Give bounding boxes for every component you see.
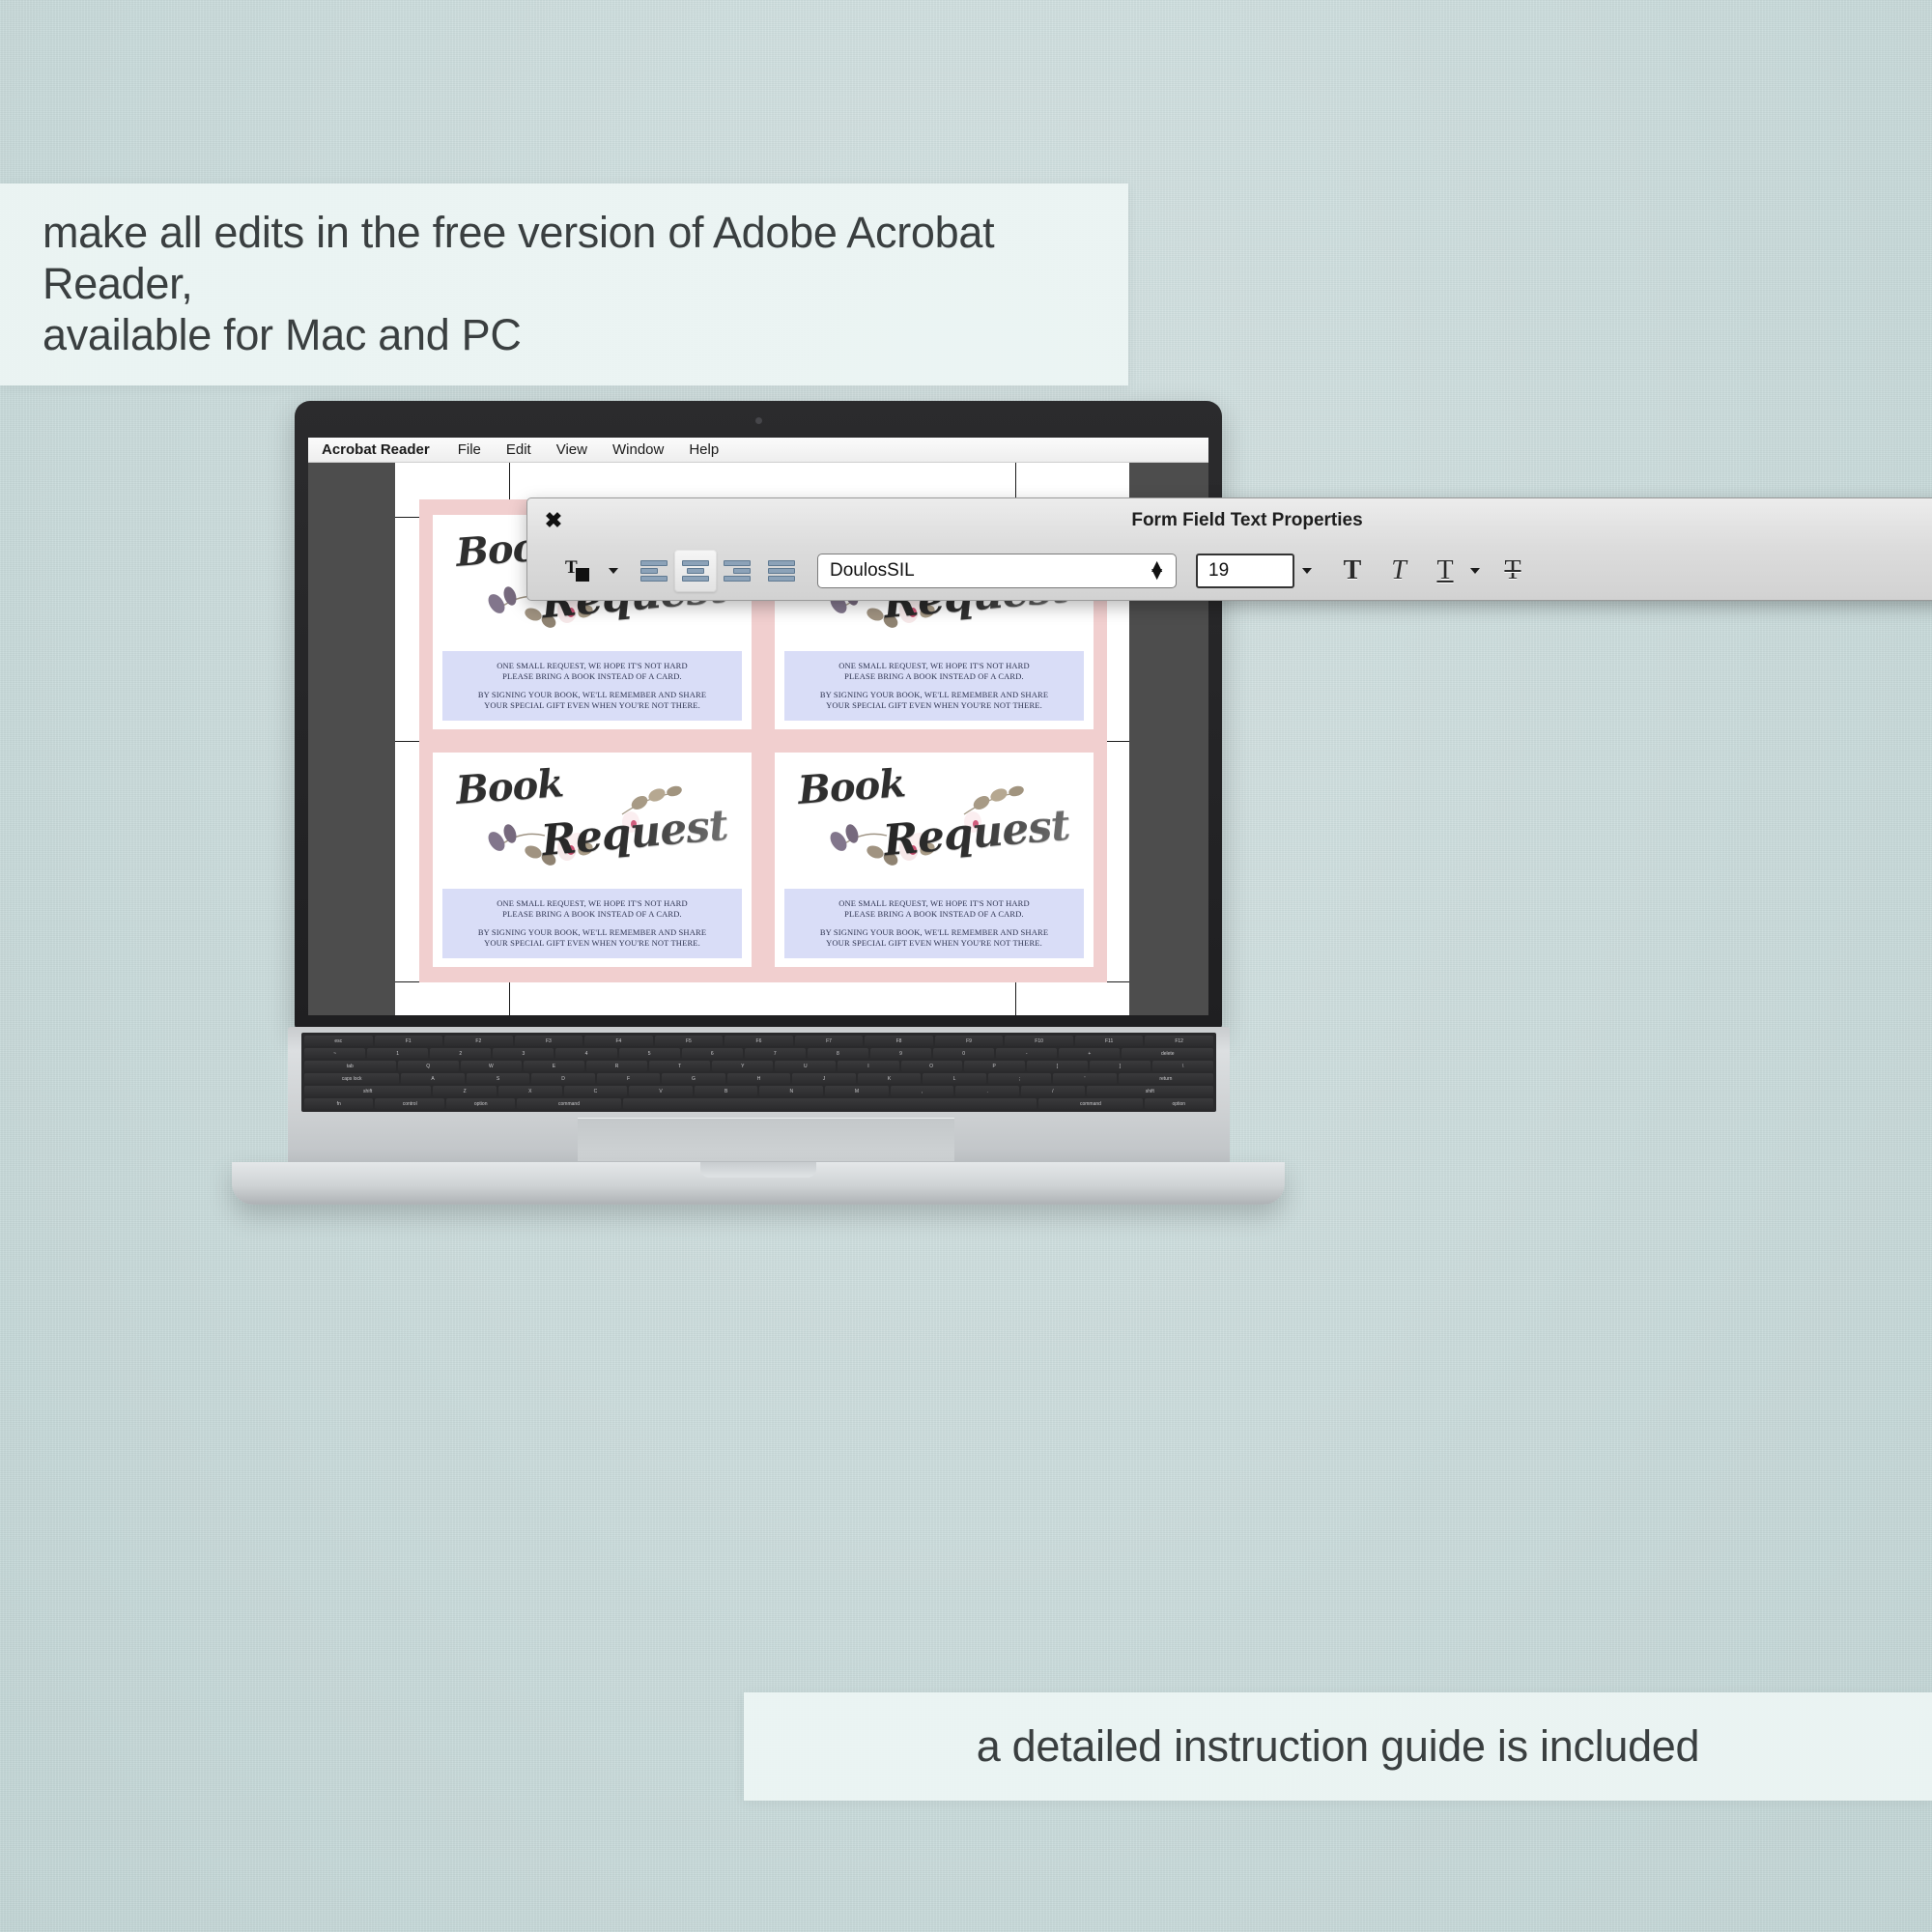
key-tab[interactable]: tab [304,1061,396,1071]
align-center-button[interactable] [674,550,717,592]
crop-mark-bottom-left-v [509,982,510,1015]
font-size-value: 19 [1208,560,1229,582]
menu-item-edit[interactable]: Edit [494,441,544,458]
justify-button[interactable] [759,550,802,592]
keyboard-row-4: shift Z X C V B N M , . / shift [304,1086,1213,1096]
card-message: ONE SMALL REQUEST, WE HOPE IT'S NOT HARD… [442,889,742,958]
key-control[interactable]: control [375,1098,443,1109]
key[interactable]: P [964,1061,1025,1071]
card-message-line-3: BY SIGNING YOUR BOOK, WE'LL REMEMBER AND… [478,927,706,938]
key[interactable]: F [597,1073,661,1084]
bottom-caption-text: a detailed instruction guide is included [977,1721,1700,1772]
key[interactable]: E [524,1061,584,1071]
card-message-line-2: PLEASE BRING A BOOK INSTEAD OF A CARD. [844,671,1024,682]
key[interactable]: . [955,1086,1019,1096]
card-item[interactable]: Book Request ONE SMALL REQUEST, WE HOPE … [433,753,752,967]
italic-button[interactable]: T [1376,550,1422,592]
key[interactable]: / [1021,1086,1085,1096]
keyboard-row-2: tab Q W E R T Y U I O P [ ] \ [304,1061,1213,1071]
key[interactable]: - [996,1048,1057,1059]
key[interactable]: F9 [935,1036,1004,1046]
key-fn[interactable]: fn [304,1098,373,1109]
key[interactable]: ] [1090,1061,1151,1071]
menu-item-view[interactable]: View [544,441,600,458]
key[interactable]: 7 [745,1048,806,1059]
key-return[interactable]: return [1119,1073,1213,1084]
card-artwork: Book Request [433,753,752,881]
underline-icon: T [1436,555,1453,586]
card-message-line-3: BY SIGNING YOUR BOOK, WE'LL REMEMBER AND… [478,690,706,700]
key[interactable]: F2 [444,1036,513,1046]
top-caption-line-1: make all edits in the free version of Ad… [43,207,1128,309]
dialog-toolbar: T DoulosSIL ▲ [527,543,1932,599]
key[interactable]: 8 [808,1048,868,1059]
key[interactable]: , [891,1086,954,1096]
key[interactable]: F1 [375,1036,443,1046]
dialog-title: Form Field Text Properties [527,510,1932,531]
menu-item-window[interactable]: Window [600,441,676,458]
key[interactable]: F7 [795,1036,864,1046]
text-color-tool-button[interactable]: T [551,550,605,592]
align-right-button[interactable] [717,550,759,592]
card-message-line-4: YOUR SPECIAL GIFT EVEN WHEN YOU'RE NOT T… [826,938,1042,949]
card-message-line-3: BY SIGNING YOUR BOOK, WE'LL REMEMBER AND… [820,927,1048,938]
key[interactable]: X [498,1086,562,1096]
key[interactable]: F6 [724,1036,793,1046]
card-message-line-3: BY SIGNING YOUR BOOK, WE'LL REMEMBER AND… [820,690,1048,700]
key[interactable]: A [401,1073,465,1084]
key[interactable]: + [1059,1048,1120,1059]
card-message-line-2: PLEASE BRING A BOOK INSTEAD OF A CARD. [844,909,1024,920]
top-caption-banner: make all edits in the free version of Ad… [0,184,1128,385]
card-title-line-1: Book [796,760,906,813]
justify-icon [768,560,793,582]
top-caption-line-2: available for Mac and PC [43,309,1128,360]
form-field-text-properties-dialog[interactable]: ✖ Form Field Text Properties T [526,497,1932,601]
close-icon[interactable]: ✖ [543,510,564,531]
key-delete[interactable]: delete [1122,1048,1213,1059]
card-message: ONE SMALL REQUEST, WE HOPE IT'S NOT HARD… [784,651,1084,721]
key[interactable]: L [923,1073,986,1084]
key[interactable]: F3 [515,1036,583,1046]
underline-button[interactable]: T [1422,550,1468,592]
key-shift-right[interactable]: shift [1087,1086,1213,1096]
key[interactable]: T [649,1061,710,1071]
bold-button[interactable]: T [1329,550,1376,592]
key[interactable]: Z [433,1086,497,1096]
align-right-icon [725,560,751,582]
key[interactable]: 4 [555,1048,616,1059]
card-message-line-4: YOUR SPECIAL GIFT EVEN WHEN YOU'RE NOT T… [826,700,1042,711]
key[interactable]: F5 [655,1036,724,1046]
card-artwork: Book Request [775,753,1094,881]
card-message-line-1: ONE SMALL REQUEST, WE HOPE IT'S NOT HARD [497,898,688,909]
crop-mark-bottom-right-v [1015,982,1016,1015]
strikethrough-button[interactable]: T [1490,550,1536,592]
card-message: ONE SMALL REQUEST, WE HOPE IT'S NOT HARD… [784,889,1084,958]
key[interactable]: C [564,1086,628,1096]
key[interactable]: N [759,1086,823,1096]
webcam-icon [755,417,762,424]
key[interactable]: D [531,1073,595,1084]
key[interactable]: 9 [870,1048,931,1059]
key[interactable]: esc [304,1036,373,1046]
card-message-line-1: ONE SMALL REQUEST, WE HOPE IT'S NOT HARD [497,661,688,671]
font-family-select[interactable]: DoulosSIL ▲▼ [817,554,1177,588]
key[interactable]: ~ [304,1048,365,1059]
dialog-title-bar: ✖ Form Field Text Properties [527,498,1932,543]
key[interactable]: F11 [1075,1036,1144,1046]
laptop-base: esc F1 F2 F3 F4 F5 F6 F7 F8 F9 F10 F11 F… [145,1027,1391,1217]
keyboard-row-5: fn control option command command option [304,1098,1213,1109]
key[interactable]: I [838,1061,898,1071]
trackpad[interactable] [578,1118,954,1161]
font-family-value: DoulosSIL [830,560,915,582]
card-message-line-4: YOUR SPECIAL GIFT EVEN WHEN YOU'RE NOT T… [484,938,700,949]
keyboard-row-1: ~ 1 2 3 4 5 6 7 8 9 0 - + delete [304,1048,1213,1059]
key-command-right[interactable]: command [1038,1098,1142,1109]
laptop-lid-notch [700,1162,816,1178]
text-color-dropdown-caret[interactable] [609,568,618,574]
key[interactable]: \ [1152,1061,1213,1071]
align-center-icon [683,560,708,582]
key[interactable]: U [775,1061,836,1071]
menu-item-acrobat-reader[interactable]: Acrobat Reader [322,441,445,458]
key[interactable]: H [727,1073,791,1084]
key[interactable]: F4 [584,1036,653,1046]
key[interactable]: 1 [367,1048,428,1059]
key[interactable]: [ [1027,1061,1088,1071]
card-message-line-1: ONE SMALL REQUEST, WE HOPE IT'S NOT HARD [838,898,1030,909]
strikethrough-icon: T [1504,555,1520,586]
font-size-dropdown-caret[interactable] [1302,568,1312,574]
key[interactable]: V [629,1086,693,1096]
menu-bar: Acrobat Reader File Edit View Window Hel… [308,438,1208,463]
key-option-left[interactable]: option [446,1098,515,1109]
key[interactable]: K [858,1073,922,1084]
key[interactable]: J [792,1073,856,1084]
text-color-icon: T [563,556,592,585]
menu-item-help[interactable]: Help [676,441,731,458]
card-message-line-1: ONE SMALL REQUEST, WE HOPE IT'S NOT HARD [838,661,1030,671]
key[interactable]: O [901,1061,962,1071]
laptop-palmrest [232,1162,1285,1205]
keyboard-row-3: caps lock A S D F G H J K L ; ' return [304,1073,1213,1084]
card-item[interactable]: Book Request ONE SMALL REQUEST, WE HOPE … [775,753,1094,967]
key[interactable]: R [586,1061,647,1071]
key-shift-left[interactable]: shift [304,1086,431,1096]
key[interactable]: 2 [430,1048,491,1059]
font-size-input[interactable]: 19 [1196,554,1294,588]
select-stepper-icon: ▲▼ [1148,563,1166,579]
card-message-line-4: YOUR SPECIAL GIFT EVEN WHEN YOU'RE NOT T… [484,700,700,711]
underline-dropdown-caret[interactable] [1470,568,1480,574]
align-left-button[interactable] [632,550,674,592]
key-space[interactable] [623,1098,1037,1109]
laptop-deck: esc F1 F2 F3 F4 F5 F6 F7 F8 F9 F10 F11 F… [288,1027,1230,1162]
card-message-line-2: PLEASE BRING A BOOK INSTEAD OF A CARD. [502,671,682,682]
key[interactable]: ; [988,1073,1052,1084]
bold-icon: T [1344,555,1362,586]
card-message-line-2: PLEASE BRING A BOOK INSTEAD OF A CARD. [502,909,682,920]
key[interactable]: ' [1053,1073,1117,1084]
italic-icon: T [1391,555,1406,586]
laptop-lid: Acrobat Reader File Edit View Window Hel… [295,401,1222,1029]
key[interactable]: 6 [682,1048,743,1059]
key[interactable]: F8 [865,1036,933,1046]
key[interactable]: 0 [933,1048,994,1059]
key[interactable]: F12 [1145,1036,1213,1046]
key[interactable]: S [467,1073,530,1084]
key[interactable]: Q [398,1061,459,1071]
align-left-icon [640,560,666,582]
keyboard[interactable]: esc F1 F2 F3 F4 F5 F6 F7 F8 F9 F10 F11 F… [301,1033,1216,1112]
key-option-right[interactable]: option [1145,1098,1213,1109]
key[interactable]: F10 [1005,1036,1073,1046]
key[interactable]: Y [712,1061,773,1071]
menu-item-file[interactable]: File [445,441,494,458]
card-message: ONE SMALL REQUEST, WE HOPE IT'S NOT HARD… [442,651,742,721]
key[interactable]: 5 [619,1048,680,1059]
key[interactable]: W [461,1061,522,1071]
key-caps-lock[interactable]: caps lock [304,1073,399,1084]
bottom-caption-banner: a detailed instruction guide is included [744,1692,1932,1801]
key-command-left[interactable]: command [517,1098,620,1109]
laptop-bezel [295,401,1222,441]
key[interactable]: B [695,1086,758,1096]
key[interactable]: 3 [493,1048,554,1059]
keyboard-row-function: esc F1 F2 F3 F4 F5 F6 F7 F8 F9 F10 F11 F… [304,1036,1213,1046]
key[interactable]: G [662,1073,725,1084]
card-title-line-1: Book [454,760,564,813]
key[interactable]: M [825,1086,889,1096]
